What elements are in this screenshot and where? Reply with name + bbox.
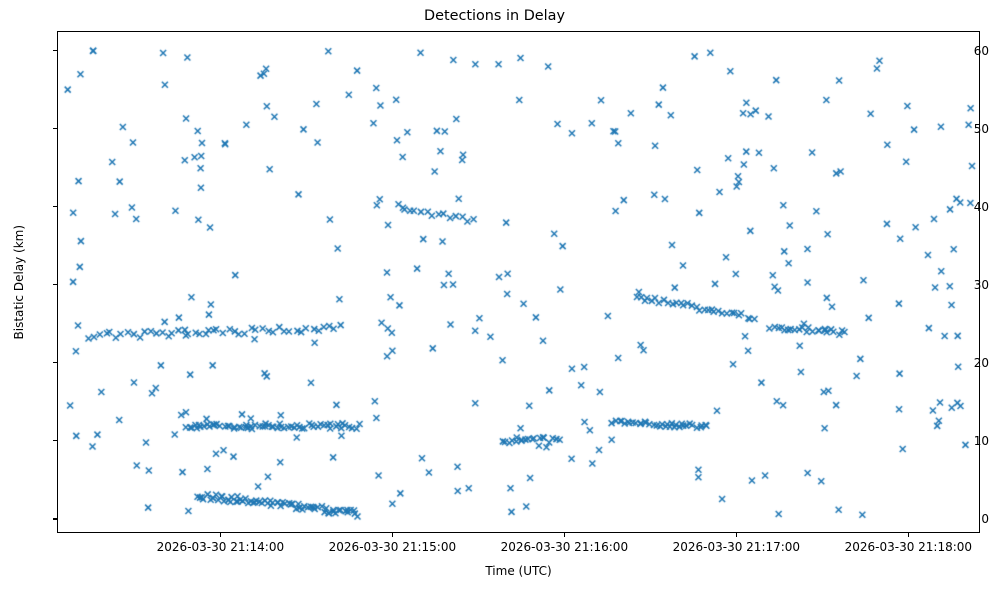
y-tick-label: 20 — [945, 356, 989, 370]
x-axis-label: Time (UTC) — [57, 564, 980, 578]
chart-title: Detections in Delay — [0, 8, 989, 24]
y-tick-label: 0 — [945, 512, 989, 526]
matplotlib-figure: Detections in Delay Bistatic Delay (km) … — [0, 0, 989, 590]
y-tick-mark — [53, 284, 57, 285]
x-tick-mark — [564, 533, 565, 537]
y-axis-label: Bistatic Delay (km) — [12, 225, 26, 340]
y-tick-mark — [53, 440, 57, 441]
y-tick-label: 10 — [945, 434, 989, 448]
x-tick-label: 2026-03-30 21:16:00 — [501, 540, 628, 554]
y-tick-label: 30 — [945, 278, 989, 292]
y-tick-label: 40 — [945, 200, 989, 214]
x-tick-mark — [736, 533, 737, 537]
x-tick-label: 2026-03-30 21:17:00 — [673, 540, 800, 554]
x-tick-mark — [908, 533, 909, 537]
y-tick-label: 50 — [945, 122, 989, 136]
y-axis-label-wrap: Bistatic Delay (km) — [12, 282, 32, 302]
y-tick-mark — [53, 128, 57, 129]
x-tick-label: 2026-03-30 21:18:00 — [845, 540, 972, 554]
x-tick-label: 2026-03-30 21:14:00 — [157, 540, 284, 554]
y-tick-mark — [53, 50, 57, 51]
y-tick-mark — [53, 518, 57, 519]
y-tick-mark — [53, 362, 57, 363]
y-tick-mark — [53, 206, 57, 207]
x-tick-mark — [392, 533, 393, 537]
scatter-plot-canvas — [0, 0, 989, 590]
x-tick-label: 2026-03-30 21:15:00 — [329, 540, 456, 554]
y-tick-label: 60 — [945, 44, 989, 58]
x-tick-mark — [220, 533, 221, 537]
